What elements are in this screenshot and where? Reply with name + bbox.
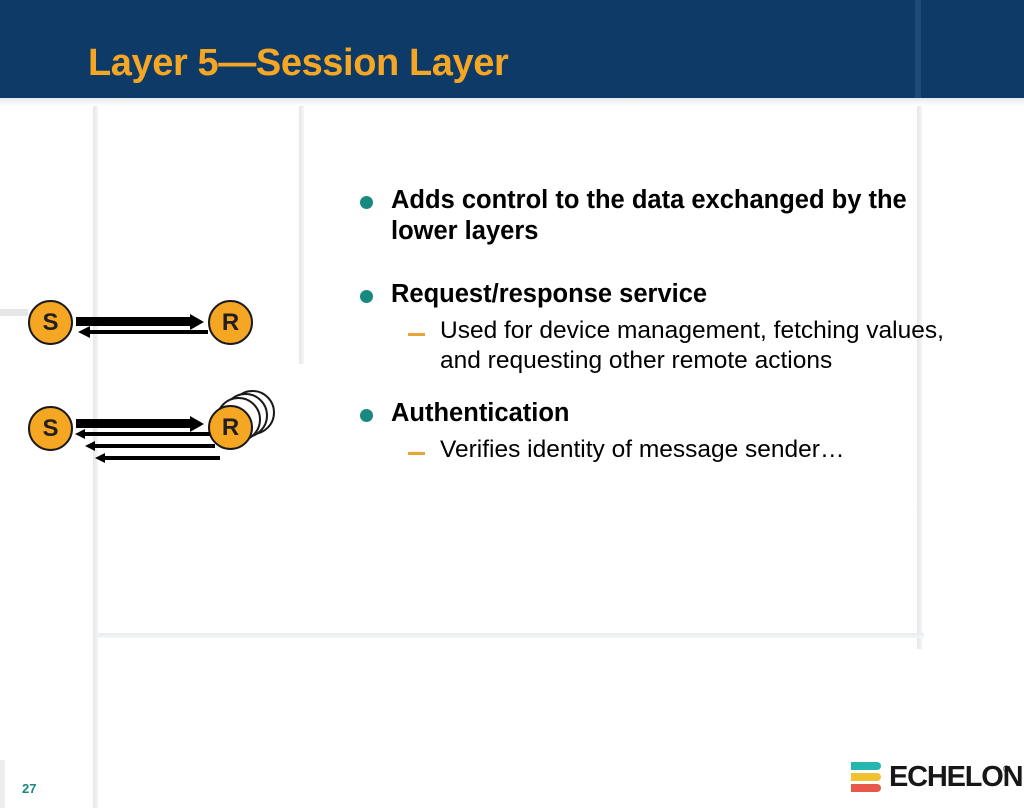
diagram1-arrow-right-head: [190, 314, 204, 330]
background-gridline-horizontal: [98, 633, 924, 638]
spacer-2: [360, 376, 960, 398]
diagram2-arrow-left-2-head: [85, 441, 95, 451]
diagram2-arrow-left-2-shaft: [95, 444, 215, 448]
background-gridline-stub-left: [0, 309, 28, 316]
bullet-dot-icon: [360, 409, 373, 422]
page-number: 27: [22, 781, 36, 796]
bullet-dot-icon: [360, 290, 373, 303]
logo-bar-teal: [851, 762, 881, 770]
background-gridline-vertical-mid: [299, 104, 304, 364]
header-accent-line: [915, 0, 921, 98]
diagram2-arrow-left-1-shaft: [85, 432, 210, 436]
diagram1-arrow-left-shaft: [90, 330, 208, 334]
bullet-label-3: Authentication: [391, 398, 570, 429]
echelon-logo-mark-icon: [851, 762, 881, 792]
bullet-dot-icon: [360, 196, 373, 209]
background-gridline-corner: [0, 760, 5, 808]
diagram2-arrow-right-shaft: [76, 419, 191, 428]
header-dropshadow: [0, 98, 1024, 106]
sub-bullet-label-2-1: Used for device management, fetching val…: [440, 316, 960, 376]
dash-icon: [408, 452, 425, 455]
diagram1-receiver-node: R: [208, 300, 253, 345]
diagram2-arrow-left-3-head: [95, 453, 105, 463]
dash-icon: [408, 333, 425, 336]
slide-canvas: Layer 5—Session Layer S R R S: [0, 0, 1024, 808]
registered-mark: ®: [1003, 764, 1010, 774]
diagram2-sender-node: S: [28, 406, 73, 451]
page-title: Layer 5—Session Layer: [88, 42, 508, 85]
diagram1-arrow-left-head: [78, 326, 90, 338]
sub-bullet-item-2-1: Used for device management, fetching val…: [408, 316, 960, 376]
diagram2-arrow-left-3-shaft: [105, 456, 220, 460]
bullet-item-1: Adds control to the data exchanged by th…: [360, 185, 960, 247]
logo-bar-gold: [851, 773, 881, 781]
diagram1-sender-node: S: [28, 300, 73, 345]
diagram1-arrow-right-shaft: [76, 317, 191, 326]
sub-bullet-label-3-1: Verifies identity of message sender…: [440, 435, 844, 465]
echelon-logo: ECHELON ®: [851, 758, 1011, 798]
bullet-item-3: Authentication: [360, 398, 960, 429]
diagram2-arrow-right-head: [190, 416, 204, 432]
bullet-label-2: Request/response service: [391, 279, 707, 310]
diagram2-arrow-left-1-head: [75, 429, 85, 439]
logo-bar-red: [851, 784, 881, 792]
bullet-content-block: Adds control to the data exchanged by th…: [360, 185, 960, 465]
spacer-1: [360, 253, 960, 279]
sub-bullet-item-3-1: Verifies identity of message sender…: [408, 435, 960, 465]
bullet-label-1: Adds control to the data exchanged by th…: [391, 185, 951, 247]
bullet-item-2: Request/response service: [360, 279, 960, 310]
